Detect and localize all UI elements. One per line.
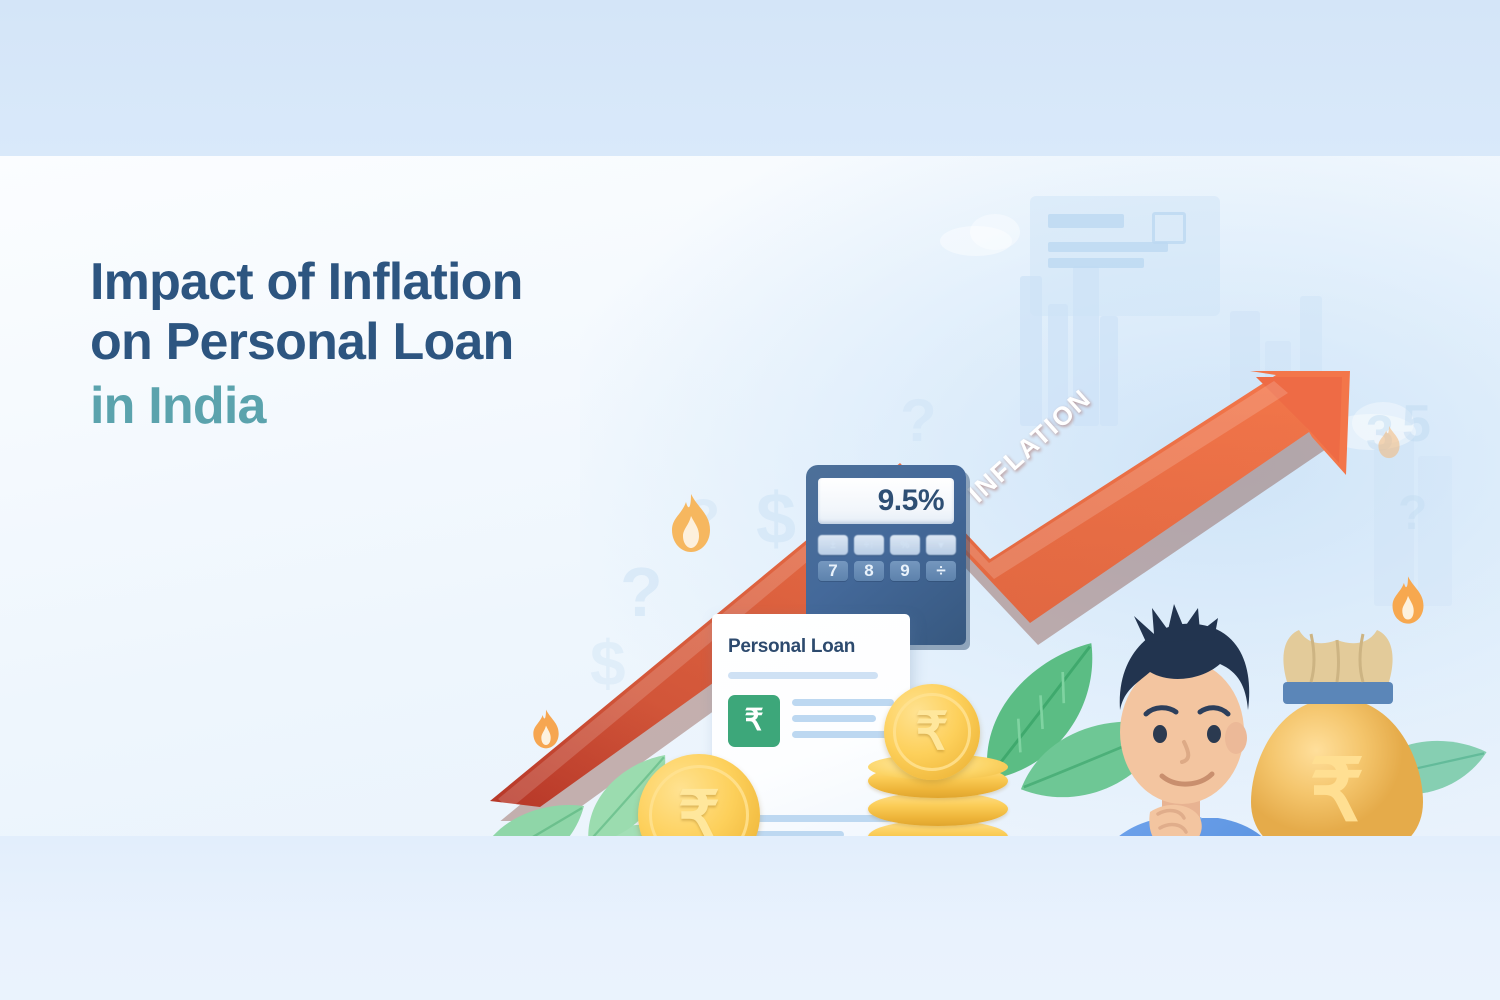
banner-image: ? $ $ ? 3 5 ? ? [0, 0, 1500, 1000]
svg-text:₹: ₹ [1310, 743, 1365, 836]
document-divider [728, 672, 878, 679]
calculator-key-8[interactable]: 8 [854, 561, 884, 581]
flame-icon-3 [1386, 574, 1430, 626]
calculator-key-9[interactable]: 9 [890, 561, 920, 581]
thoughtful-person-illustration [1050, 586, 1310, 836]
rupee-badge-icon: ₹ [728, 695, 780, 747]
coin-rupee-large-symbol: ₹ [678, 777, 720, 837]
flame-icon-4 [1374, 424, 1404, 460]
calculator-key-7[interactable]: 7 [818, 561, 848, 581]
calculator-key-r1c2[interactable]: ÷↑ [854, 535, 884, 555]
calculator-display: 9.5% [818, 478, 954, 524]
document-title: Personal Loan [728, 636, 894, 658]
title-line-1: Impact of Inflation [90, 252, 650, 312]
coin-rupee-top: ₹ [884, 684, 980, 780]
calculator-key-divide[interactable]: ÷ [926, 561, 956, 581]
frame-top-band [0, 0, 1500, 156]
calculator-key-r1c1[interactable]: ± [818, 535, 848, 555]
coin-rupee-symbol: ₹ [915, 702, 948, 762]
page-title: Impact of Inflation on Personal Loan in … [90, 252, 650, 437]
watermark-digit-5: 5 [1402, 394, 1431, 454]
title-line-3: in India [90, 375, 650, 437]
calculator-key-r1c4[interactable]: ▾ [926, 535, 956, 555]
title-line-2: on Personal Loan [90, 312, 650, 372]
calculator-keypad[interactable]: ± ÷↑ % ▾ 7 8 9 ÷ [818, 535, 958, 581]
frame-bottom-band [0, 836, 1500, 1000]
calculator-key-r1c3[interactable]: % [890, 535, 920, 555]
calculator-display-value: 9.5% [878, 484, 944, 518]
watermark-question-3: ? [1398, 486, 1427, 541]
document-text-lines [792, 695, 894, 747]
